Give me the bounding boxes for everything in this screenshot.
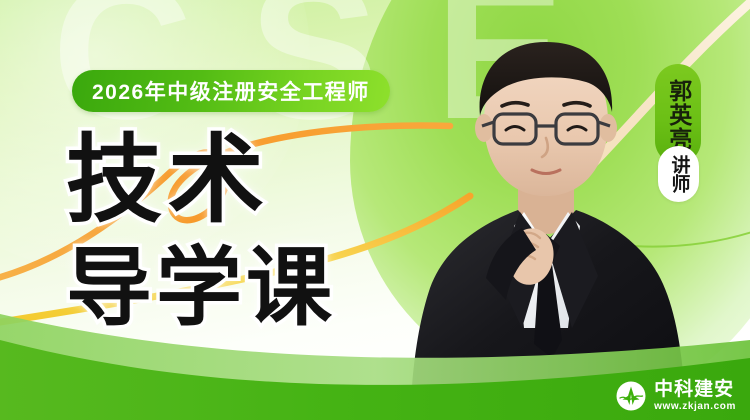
instructor-role-badge: 讲师	[658, 146, 699, 202]
brand-name: 中科建安	[654, 380, 734, 399]
brand-text-block: 中科建安 www.zkjan.com	[654, 380, 736, 412]
course-poster: CSE	[0, 0, 750, 420]
course-kicker-pill: 2026年中级注册安全工程师	[72, 70, 390, 112]
brand-logo: 中科建安 www.zkjan.com	[616, 380, 736, 412]
zkjan-logo-icon	[616, 381, 646, 411]
instructor-name: 郭英亮	[666, 79, 689, 151]
brand-url: www.zkjan.com	[654, 402, 736, 412]
instructor-role: 讲师	[669, 155, 689, 193]
page-title-line1: 技术	[66, 133, 270, 229]
page-title-line2: 导学课	[66, 245, 336, 331]
course-kicker-label: 2026年中级注册安全工程师	[92, 76, 370, 106]
